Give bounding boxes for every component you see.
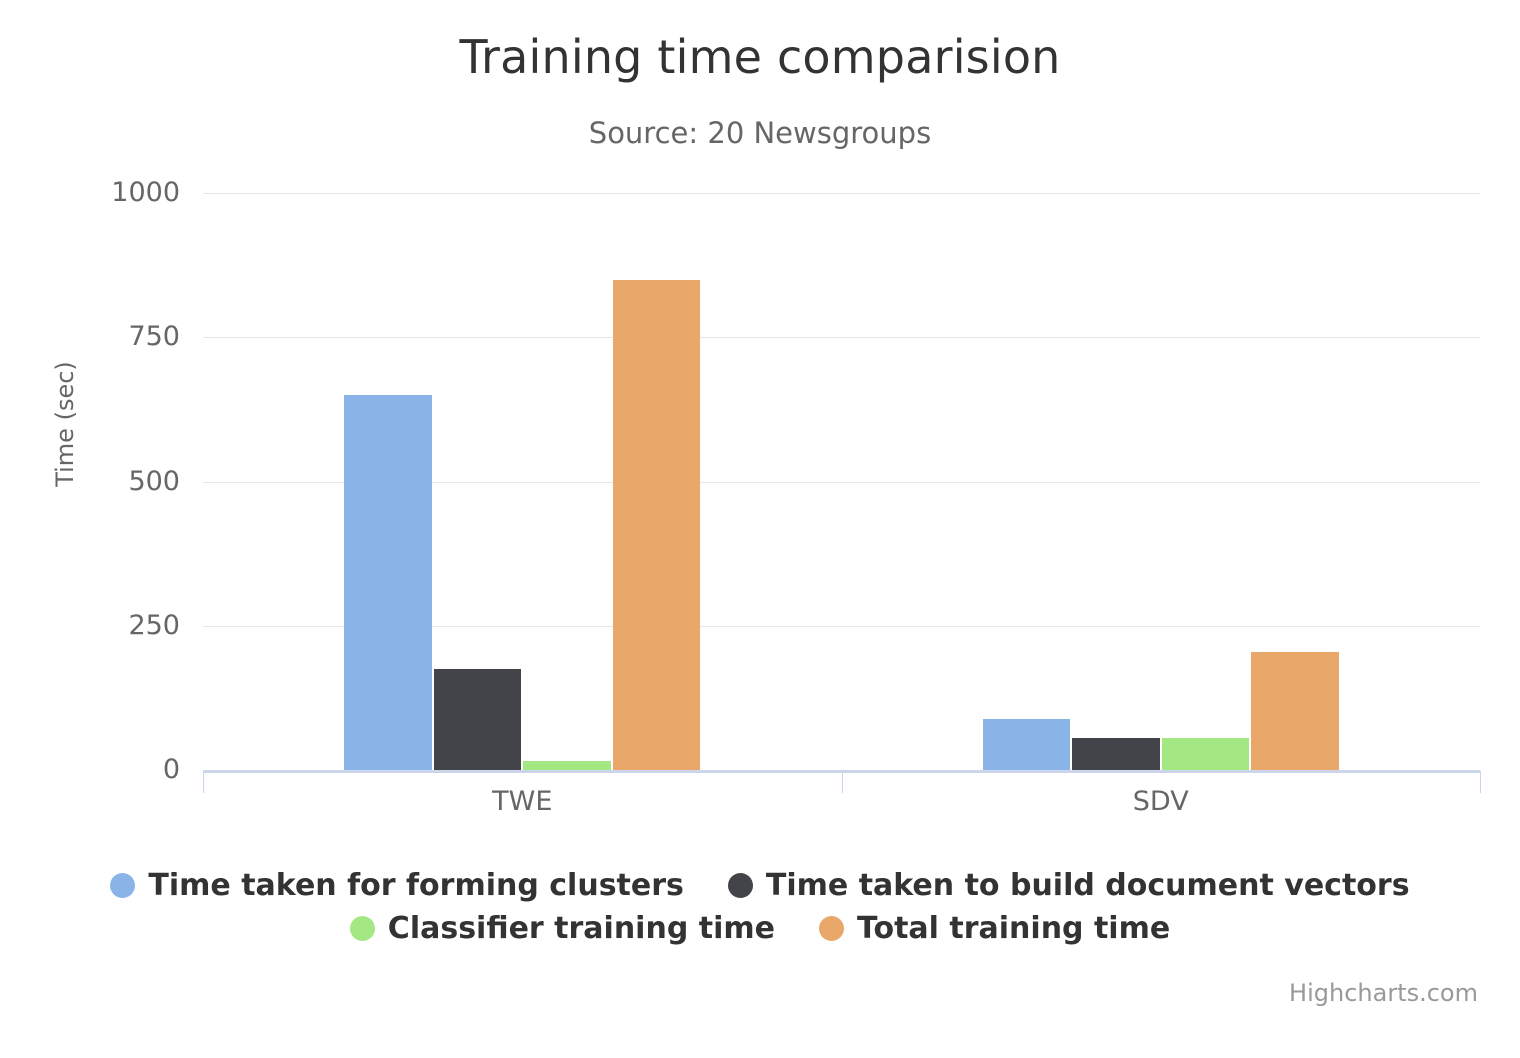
bar[interactable] xyxy=(1251,652,1338,770)
x-axis-tick xyxy=(1480,771,1481,793)
bar[interactable] xyxy=(613,280,700,770)
y-axis-tick-label: 750 xyxy=(60,323,180,350)
legend-marker-circle-icon xyxy=(110,873,135,898)
legend-item[interactable]: Time taken to build document vectors xyxy=(728,868,1410,903)
chart-title: Training time comparision xyxy=(0,32,1520,83)
legend-marker-circle-icon xyxy=(350,916,375,941)
y-axis-tick-label: 0 xyxy=(60,756,180,783)
x-axis-tick xyxy=(842,771,843,793)
plot-area xyxy=(203,190,1480,770)
y-axis-tick-label: 500 xyxy=(60,468,180,495)
x-axis-category-label-twe[interactable]: TWE xyxy=(492,786,552,817)
legend-row: Classifier training timeTotal training t… xyxy=(0,911,1520,946)
legend-item[interactable]: Classifier training time xyxy=(350,911,775,946)
legend-row: Time taken for forming clustersTime take… xyxy=(0,868,1520,903)
bar[interactable] xyxy=(344,395,431,770)
legend-item-label: Total training time xyxy=(857,911,1170,946)
y-axis-tick-label: 250 xyxy=(60,612,180,639)
bar[interactable] xyxy=(983,719,1070,770)
bar[interactable] xyxy=(434,669,521,770)
highcharts-container: Training time comparision Source: 20 New… xyxy=(0,0,1520,1058)
x-axis-tick xyxy=(203,771,204,793)
x-axis-category-label-sdv[interactable]: SDV xyxy=(1133,786,1189,817)
bar[interactable] xyxy=(523,761,610,770)
chart-legend: Time taken for forming clustersTime take… xyxy=(0,868,1520,954)
legend-marker-circle-icon xyxy=(819,916,844,941)
legend-marker-circle-icon xyxy=(728,873,753,898)
legend-item-label: Time taken for forming clusters xyxy=(148,868,683,903)
legend-item[interactable]: Total training time xyxy=(819,911,1170,946)
bar[interactable] xyxy=(1162,738,1249,770)
chart-subtitle: Source: 20 Newsgroups xyxy=(0,118,1520,150)
highcharts-credit-link[interactable]: Highcharts.com xyxy=(1289,979,1478,1007)
bar[interactable] xyxy=(1072,738,1159,770)
legend-item[interactable]: Time taken for forming clusters xyxy=(110,868,683,903)
y-axis-tick-label: 1000 xyxy=(60,179,180,206)
legend-item-label: Classifier training time xyxy=(388,911,775,946)
legend-item-label: Time taken to build document vectors xyxy=(766,868,1410,903)
